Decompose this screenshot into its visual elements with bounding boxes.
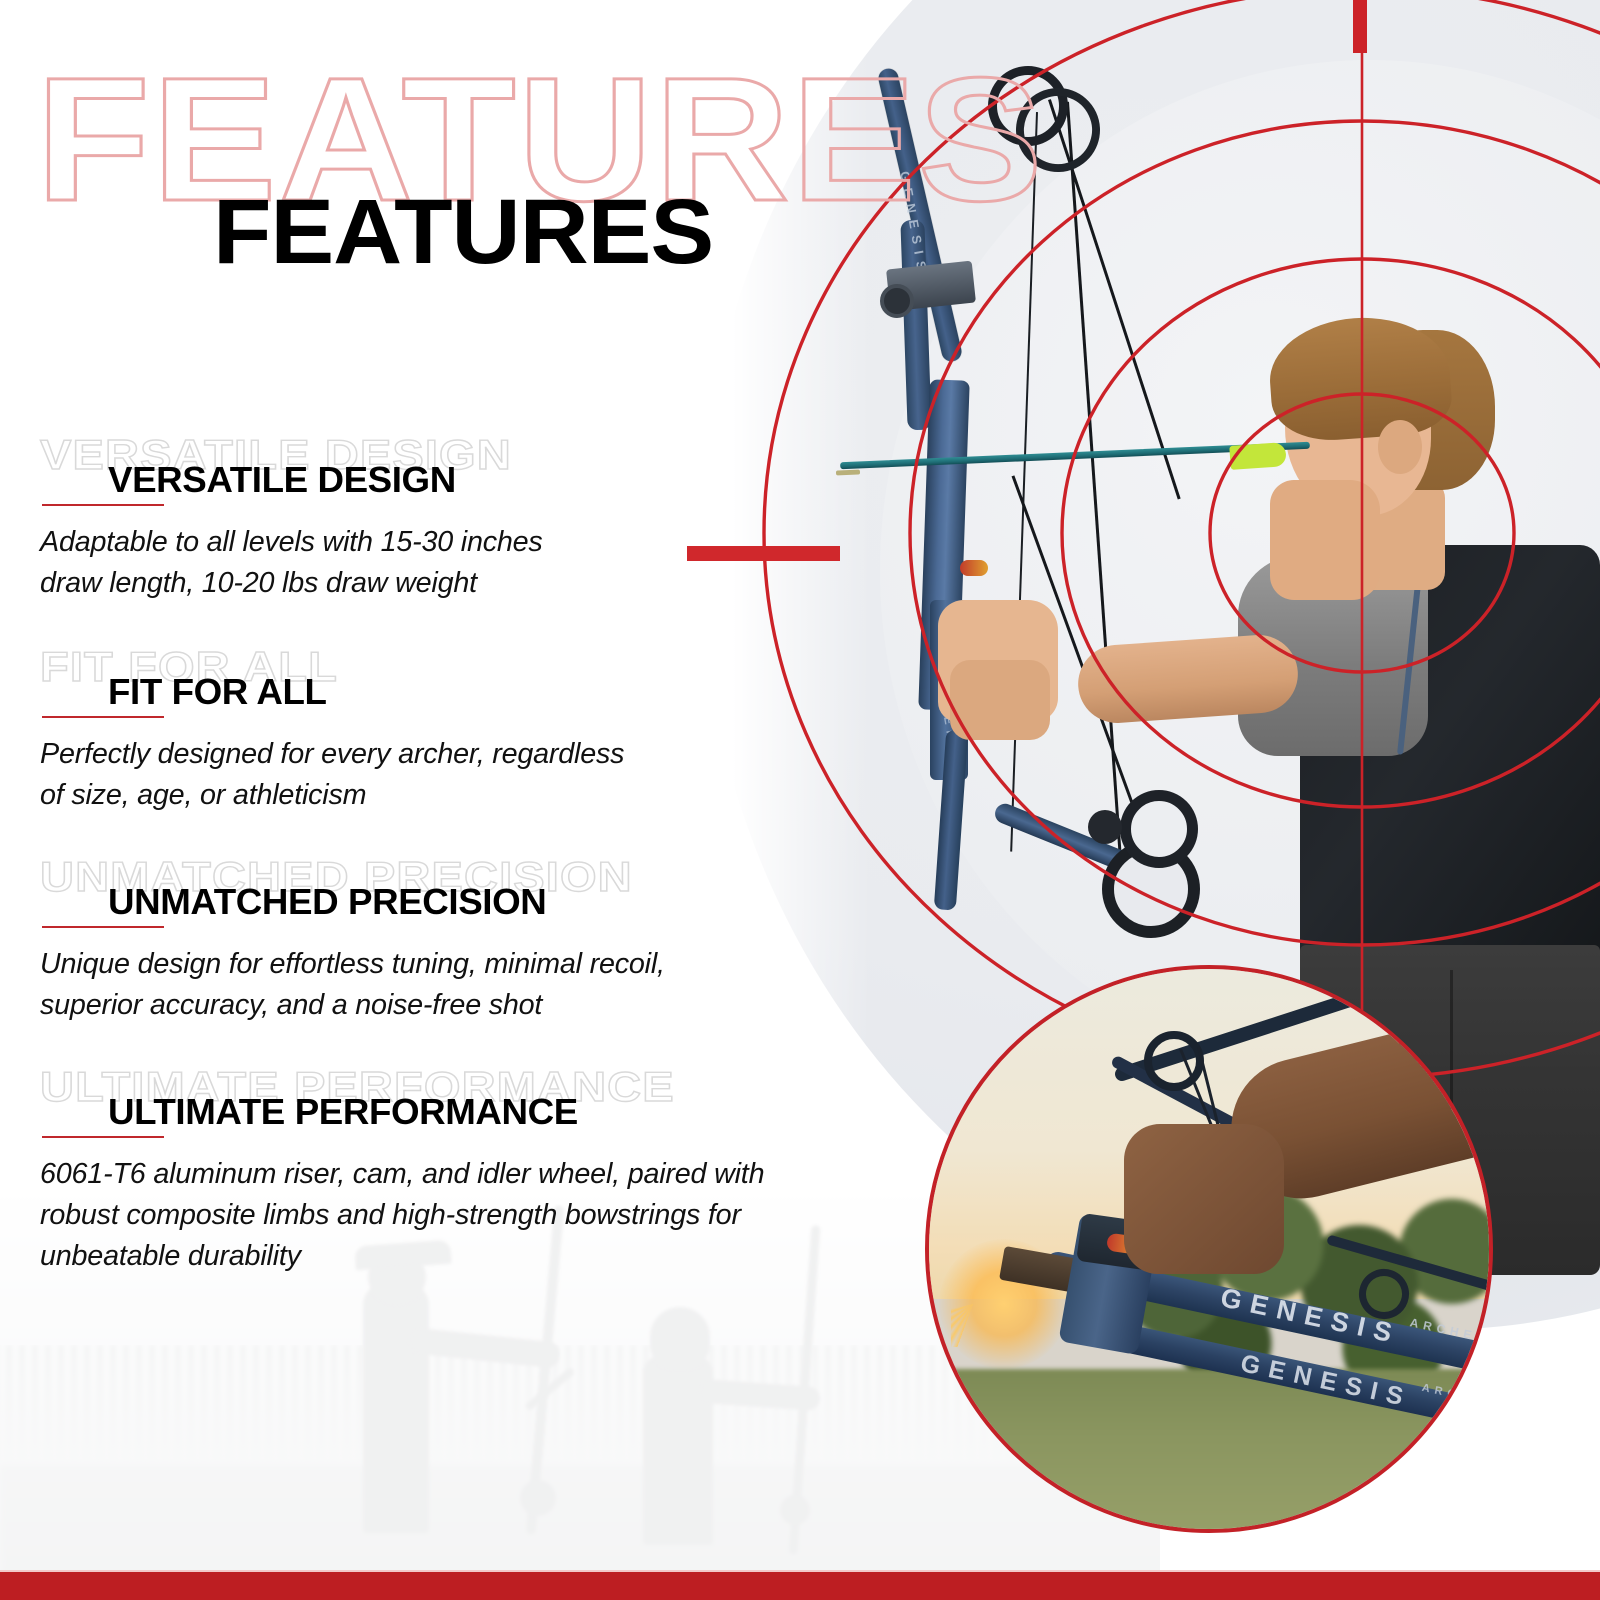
- feature-infographic-page: GENESIS GENESIS: [0, 0, 1600, 1600]
- bottom-archer-2-head: [650, 1307, 710, 1369]
- bow-cam-hub: [1088, 810, 1122, 844]
- feature-body-text: Perfectly designed for every archer, reg…: [40, 734, 891, 816]
- bottom-archer-1-body: [363, 1283, 429, 1533]
- bottom-archer-2-cam: [780, 1495, 810, 1525]
- feature-underline-rule: [42, 1136, 164, 1138]
- feature-block-fit-for-all: FIT FOR ALL FIT FOR ALL Perfectly design…: [40, 652, 900, 816]
- feature-body-text: Unique design for effortless tuning, min…: [40, 944, 891, 1026]
- feature-body-text: 6061-T6 aluminum riser, cam, and idler w…: [40, 1154, 891, 1278]
- feature-block-ultimate-performance: ULTIMATE PERFORMANCE ULTIMATE PERFORMANC…: [40, 1072, 900, 1278]
- feature-heading: VERSATILE DESIGN: [108, 440, 456, 498]
- feature-heading: ULTIMATE PERFORMANCE: [108, 1072, 578, 1130]
- bottom-red-band: [0, 1572, 1600, 1600]
- boy-draw-hand: [1270, 480, 1380, 600]
- feature-block-unmatched-precision: UNMATCHED PRECISION UNMATCHED PRECISION …: [40, 862, 900, 1026]
- crosshair-top-tick: [1353, 0, 1367, 53]
- feature-underline-rule: [42, 716, 164, 718]
- arrow-vane: [1229, 442, 1287, 470]
- feature-body-text: Adaptable to all levels with 15-30 inche…: [40, 522, 891, 604]
- page-title: FEATURES: [213, 186, 713, 278]
- feature-underline-rule: [42, 504, 164, 506]
- feature-block-versatile-design: VERSATILE DESIGN VERSATILE DESIGN Adapta…: [40, 440, 900, 604]
- boy-bow-hand-fingers: [950, 660, 1050, 740]
- boy-bow-arm: [1076, 632, 1301, 725]
- boy-ear: [1378, 420, 1422, 474]
- inset-circle-photo: GENESIS ARCHERY GENESIS ARCHERY: [925, 965, 1493, 1533]
- bow-sight-pin: [880, 284, 914, 318]
- feature-underline-rule: [42, 926, 164, 928]
- bow-cam-wheel-2: [1120, 790, 1198, 868]
- feature-heading: UNMATCHED PRECISION: [108, 862, 546, 920]
- inset-fist: [1124, 1124, 1284, 1274]
- bow-grip-logo: [960, 560, 988, 576]
- feature-heading: FIT FOR ALL: [108, 652, 327, 710]
- bottom-archer-1-cam: [520, 1480, 556, 1516]
